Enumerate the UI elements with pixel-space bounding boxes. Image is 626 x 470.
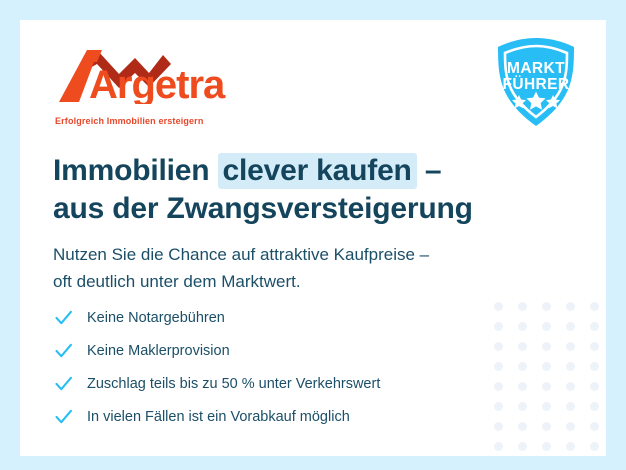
dot [566, 302, 575, 311]
dot [542, 382, 551, 391]
dot [494, 442, 503, 451]
headline-line1-after: – [417, 154, 442, 187]
list-item: Zuschlag teils bis zu 50 % unter Verkehr… [53, 367, 523, 400]
benefit-label: Zuschlag teils bis zu 50 % unter Verkehr… [87, 376, 380, 392]
page-title: Immobilien clever kaufen – aus der Zwang… [53, 152, 553, 228]
markt-fuehrer-badge: MARKT FÜHRER [486, 32, 586, 132]
list-item: Keine Notargebühren [53, 301, 523, 334]
subtitle-line2: oft deutlich unter dem Marktwert. [53, 272, 301, 291]
check-icon [53, 307, 74, 328]
list-item: Keine Maklerprovision [53, 334, 523, 367]
dot [590, 442, 599, 451]
check-icon [53, 373, 74, 394]
page-subtitle: Nutzen Sie die Chance auf attraktive Kau… [53, 241, 553, 295]
dot [566, 322, 575, 331]
logo-tagline: Erfolgreich Immobilien ersteigern [55, 116, 203, 126]
benefit-list: Keine Notargebühren Keine Maklerprovisio… [53, 301, 523, 433]
dot [590, 302, 599, 311]
dot [518, 442, 527, 451]
dot [542, 402, 551, 411]
dot [566, 382, 575, 391]
dot [590, 422, 599, 431]
dot [566, 442, 575, 451]
dot [590, 402, 599, 411]
dot [542, 362, 551, 371]
headline-highlight: clever kaufen [218, 153, 417, 189]
list-item: In vielen Fällen ist ein Vorabkauf mögli… [53, 400, 523, 433]
check-icon [53, 340, 74, 361]
dot [590, 382, 599, 391]
dot [590, 342, 599, 351]
subtitle-line1: Nutzen Sie die Chance auf attraktive Kau… [53, 245, 429, 264]
benefit-label: In vielen Fällen ist ein Vorabkauf mögli… [87, 409, 350, 425]
dot [566, 422, 575, 431]
dot [542, 442, 551, 451]
dot [566, 342, 575, 351]
dot [566, 402, 575, 411]
dot [590, 322, 599, 331]
argetra-logo[interactable]: Argetra Erfolgreich Immobilien ersteiger… [53, 46, 253, 124]
benefit-label: Keine Notargebühren [87, 310, 225, 326]
svg-text:Argetra: Argetra [89, 63, 226, 104]
dot [542, 322, 551, 331]
benefit-label: Keine Maklerprovision [87, 343, 230, 359]
dot [542, 302, 551, 311]
argetra-roof-mark-icon: Argetra [53, 46, 253, 104]
dot [566, 362, 575, 371]
promo-banner: Argetra Erfolgreich Immobilien ersteiger… [0, 0, 626, 470]
headline-line2: aus der Zwangsversteigerung [53, 190, 553, 228]
check-icon [53, 406, 74, 427]
promo-card: Argetra Erfolgreich Immobilien ersteiger… [20, 20, 606, 456]
badge-line2: FÜHRER [503, 76, 570, 93]
dot [590, 362, 599, 371]
dot [542, 342, 551, 351]
badge-line1: MARKT [507, 60, 565, 77]
dot [542, 422, 551, 431]
shield-badge-icon: MARKT FÜHRER [486, 32, 586, 132]
headline-line1-before: Immobilien [53, 154, 218, 187]
